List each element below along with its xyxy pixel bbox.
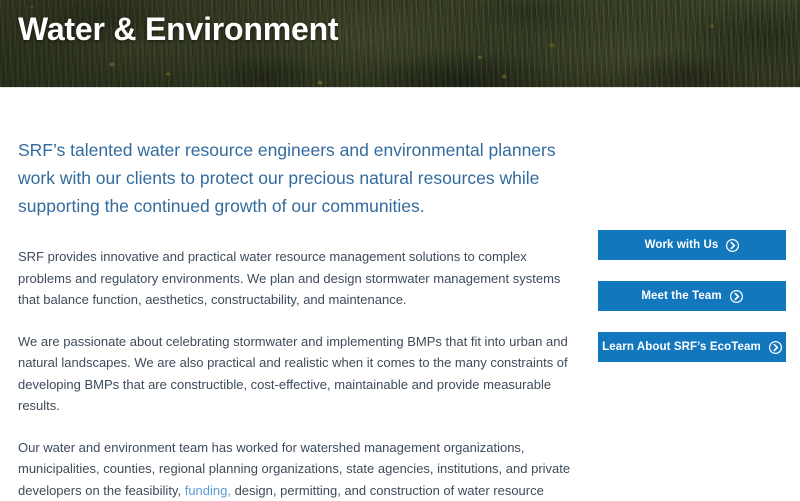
chevron-right-circle-icon [726,239,739,252]
cta-label: Meet the Team [641,290,721,302]
paragraph-text: SRF provides innovative and practical wa… [18,249,560,307]
meet-the-team-button[interactable]: Meet the Team [598,281,786,311]
content-column: SRF’s talented water resource engineers … [18,88,580,501]
funding-link[interactable]: funding, [185,483,231,498]
work-with-us-button[interactable]: Work with Us [598,230,786,260]
body-paragraph-2: We are passionate about celebrating stor… [18,311,580,417]
lead-paragraph: SRF’s talented water resource engineers … [18,88,580,220]
body-paragraph-1: SRF provides innovative and practical wa… [18,220,580,311]
chevron-right-circle-icon [769,341,782,354]
page-title: Water & Environment [18,9,338,49]
paragraph-text: We are passionate about celebrating stor… [18,334,568,414]
cta-button-rail: Work with Us Meet the Team Learn About S… [598,230,786,362]
cta-label: Learn About SRF’s EcoTeam [602,341,761,353]
page-hero: Water & Environment [0,0,800,88]
body-paragraph-3: Our water and environment team has worke… [18,417,580,501]
learn-about-ecoteam-button[interactable]: Learn About SRF’s EcoTeam [598,332,786,362]
chevron-right-circle-icon [730,290,743,303]
page-body: SRF’s talented water resource engineers … [0,88,800,501]
cta-label: Work with Us [645,239,719,251]
